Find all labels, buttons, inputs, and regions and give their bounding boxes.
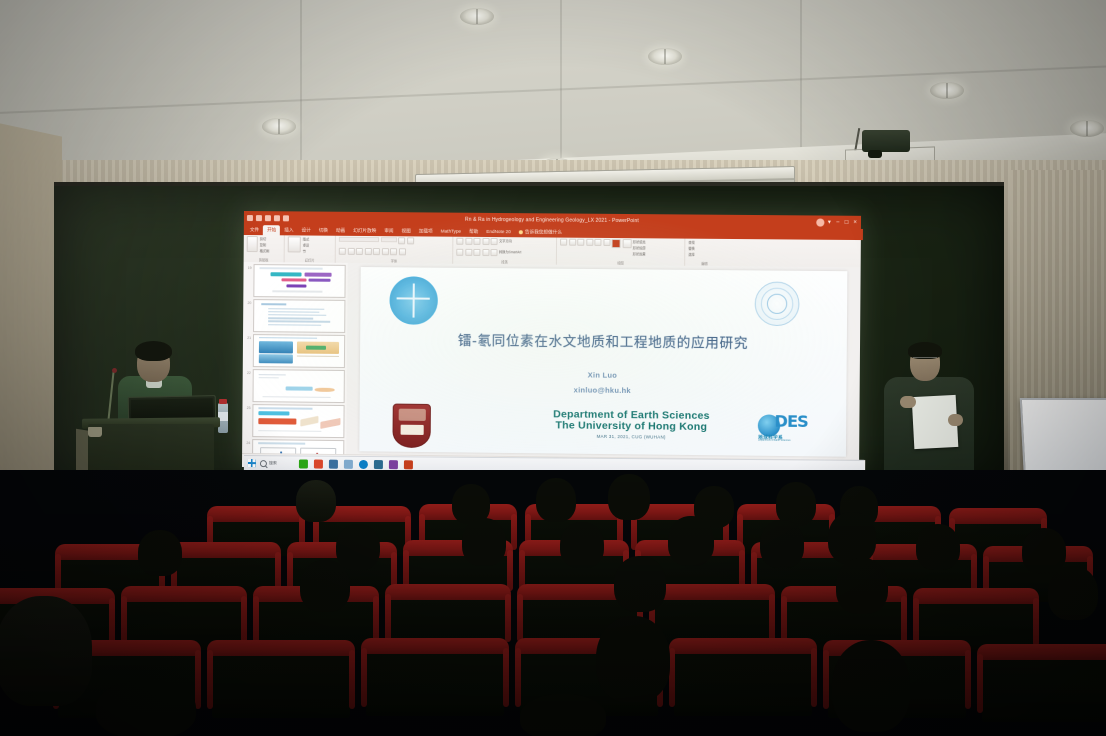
format-painter-label[interactable]: 格式刷 bbox=[260, 248, 270, 253]
audience-head bbox=[138, 530, 182, 576]
increase-indent-icon[interactable] bbox=[482, 238, 489, 245]
redo-icon[interactable] bbox=[265, 215, 271, 221]
ceiling-downlight bbox=[930, 82, 964, 99]
start-button[interactable] bbox=[248, 459, 256, 467]
italic-icon[interactable] bbox=[347, 247, 354, 254]
browser-icon[interactable] bbox=[374, 460, 383, 469]
audience-head bbox=[336, 524, 380, 570]
ceiling-downlight bbox=[648, 48, 682, 65]
list-item[interactable]: 19 bbox=[243, 262, 347, 298]
tell-me-box[interactable]: 告诉我您想做什么 bbox=[515, 227, 566, 237]
shape-effects-label[interactable]: 形状效果 bbox=[633, 251, 646, 256]
shape-arrow-icon[interactable] bbox=[569, 239, 576, 246]
text-direction-label[interactable]: 文字方向 bbox=[499, 238, 512, 243]
audience-head bbox=[760, 520, 804, 568]
ceiling-downlight bbox=[460, 8, 494, 25]
audience-head bbox=[462, 518, 506, 566]
audience-head bbox=[836, 558, 888, 614]
audience-head-foreground bbox=[0, 596, 92, 706]
audience-head bbox=[1022, 528, 1066, 574]
projector-lens bbox=[868, 150, 882, 158]
tab-mathtype[interactable]: MathType bbox=[437, 227, 465, 237]
thumbnail-number: 24 bbox=[244, 439, 250, 445]
cug-seal-logo bbox=[389, 276, 438, 325]
minimize-icon[interactable]: − bbox=[836, 219, 840, 225]
ribbon-group-editing[interactable]: 查找 替换 选择 编辑 bbox=[685, 239, 724, 266]
search-icon bbox=[260, 460, 267, 467]
line-spacing-icon[interactable] bbox=[491, 238, 498, 245]
list-item[interactable]: 20 bbox=[243, 297, 347, 333]
numbering-icon[interactable] bbox=[465, 238, 472, 245]
microphone-head bbox=[112, 368, 117, 373]
tab-animations[interactable]: 动画 bbox=[332, 226, 349, 236]
cut-label[interactable]: 剪切 bbox=[260, 236, 270, 241]
standing-speaker-glasses bbox=[913, 357, 937, 362]
lightbulb-icon bbox=[519, 230, 523, 234]
current-slide[interactable]: 镭-氡同位素在水文地质和工程地质的应用研究 Xin Luo xinluo@hku… bbox=[359, 267, 848, 457]
wechat-icon[interactable] bbox=[299, 459, 308, 468]
shape-pentagon-icon[interactable] bbox=[603, 239, 610, 246]
des-sub-en: Department of Earth Sciences bbox=[758, 439, 790, 442]
shape-rect-icon[interactable] bbox=[560, 239, 567, 246]
slide-thumbnail[interactable] bbox=[252, 369, 344, 403]
tab-design[interactable]: 设计 bbox=[297, 225, 314, 235]
crest-book bbox=[401, 424, 424, 435]
des-logo: DES 地球科学系 Department of Earth Sciences bbox=[758, 411, 805, 442]
font-color-icon[interactable] bbox=[398, 248, 405, 255]
shape-outline-label[interactable]: 形状轮廓 bbox=[633, 245, 646, 250]
hku-crest-logo bbox=[393, 404, 432, 449]
reset-label[interactable]: 重设 bbox=[303, 242, 309, 247]
customize-icon[interactable] bbox=[283, 215, 289, 221]
layout-label[interactable]: 版式 bbox=[303, 236, 309, 241]
shape-triangle-icon[interactable] bbox=[594, 239, 601, 246]
audience-head bbox=[300, 560, 350, 612]
folder-icon[interactable] bbox=[344, 459, 353, 468]
search-placeholder: 搜索 bbox=[269, 460, 277, 466]
audience-head bbox=[520, 694, 606, 736]
shape-fill-label[interactable]: 形状填充 bbox=[633, 239, 646, 244]
ceiling-downlight bbox=[1070, 120, 1104, 137]
document-title: Rn & Ra in Hydrogeology and Engineering … bbox=[289, 215, 817, 225]
text-shadow-icon[interactable] bbox=[364, 248, 371, 255]
speaker-right-hand bbox=[948, 414, 963, 426]
ribbon-group-font[interactable]: 字体 bbox=[336, 236, 454, 264]
list-item[interactable]: 23 bbox=[242, 402, 346, 438]
tab-addins[interactable]: 加载项 bbox=[415, 226, 437, 236]
edge-icon[interactable] bbox=[359, 459, 368, 468]
speaker-left-hand bbox=[900, 396, 916, 408]
audience-head bbox=[828, 512, 876, 564]
crest-lion bbox=[398, 408, 426, 421]
replace-label[interactable]: 替换 bbox=[688, 246, 694, 251]
ribbon-display-options-icon[interactable]: ▾ bbox=[828, 219, 831, 225]
search-input[interactable]: 搜索 bbox=[260, 460, 277, 467]
ceiling-projector bbox=[862, 130, 910, 152]
bottle-cap bbox=[219, 399, 227, 404]
lecture-hall-photo: Rn & Ra in Hydrogeology and Engineering … bbox=[0, 0, 1106, 736]
copy-label[interactable]: 复制 bbox=[260, 242, 270, 247]
tell-me-label: 告诉我您想做什么 bbox=[525, 228, 562, 236]
tab-view[interactable]: 视图 bbox=[398, 226, 415, 236]
underline-icon[interactable] bbox=[356, 247, 363, 254]
seat bbox=[674, 644, 812, 716]
audience-head bbox=[536, 478, 576, 522]
audience-head bbox=[916, 524, 960, 570]
paste-button[interactable] bbox=[247, 236, 258, 252]
ribbon-group-clipboard[interactable]: 剪切 复制 格式刷 剪贴板 bbox=[244, 235, 285, 262]
font-size-box[interactable] bbox=[380, 237, 396, 242]
shape-oval-icon[interactable] bbox=[586, 239, 593, 246]
increase-font-size-icon[interactable] bbox=[398, 237, 405, 244]
thumbnail-number: 20 bbox=[245, 299, 251, 305]
slide-title: 镭-氡同位素在水文地质和工程地质的应用研究 bbox=[360, 328, 847, 353]
audience-head bbox=[560, 522, 604, 568]
bold-icon[interactable] bbox=[339, 247, 346, 254]
audience-head bbox=[596, 616, 670, 702]
restore-icon[interactable]: □ bbox=[845, 219, 849, 225]
slide-editing-canvas[interactable]: 镭-氡同位素在水文地质和工程地质的应用研究 Xin Luo xinluo@hku… bbox=[346, 263, 860, 461]
quick-access-toolbar[interactable] bbox=[244, 214, 289, 220]
select-label[interactable]: 选择 bbox=[688, 252, 694, 257]
list-item[interactable]: 22 bbox=[243, 367, 347, 403]
thumbnail-number: 23 bbox=[244, 404, 250, 410]
strikethrough-icon[interactable] bbox=[373, 248, 380, 255]
columns-icon[interactable] bbox=[490, 249, 497, 256]
change-case-icon[interactable] bbox=[390, 248, 397, 255]
save-icon[interactable] bbox=[247, 215, 253, 221]
close-icon[interactable]: × bbox=[853, 219, 857, 225]
seat bbox=[212, 646, 350, 718]
thumbnail-number: 19 bbox=[246, 264, 252, 270]
qq-icon[interactable] bbox=[314, 459, 323, 468]
align-center-icon[interactable] bbox=[465, 248, 472, 255]
tab-endnote[interactable]: EndNote 20 bbox=[482, 227, 515, 237]
audience-head bbox=[668, 516, 714, 566]
slide-thumbnail-panel[interactable]: 19 20 bbox=[242, 262, 349, 455]
ribbon-group-drawing[interactable]: 形状填充 形状轮廓 形状效果 绘图 bbox=[557, 238, 686, 266]
align-left-icon[interactable] bbox=[456, 248, 463, 255]
audience-head bbox=[614, 556, 666, 612]
find-label[interactable]: 查找 bbox=[688, 240, 694, 245]
slide-thumbnail[interactable] bbox=[253, 299, 345, 333]
audience-head bbox=[96, 680, 196, 736]
tab-review[interactable]: 审阅 bbox=[380, 226, 397, 236]
ceiling-downlight bbox=[262, 118, 296, 135]
paper-cup bbox=[88, 427, 102, 437]
audience-head bbox=[608, 474, 650, 520]
ribbon-group-paragraph[interactable]: 文字方向 转换为SmartArt 段落 bbox=[453, 237, 557, 265]
tab-file[interactable]: 文件 bbox=[246, 225, 263, 235]
shape-line-icon[interactable] bbox=[577, 239, 584, 246]
slide-thumbnail[interactable] bbox=[253, 264, 345, 298]
window-buttons[interactable]: ▾ − □ × bbox=[828, 219, 861, 225]
slideshow-icon[interactable] bbox=[274, 215, 280, 221]
decrease-font-size-icon[interactable] bbox=[407, 237, 414, 244]
powerpoint-icon[interactable] bbox=[404, 460, 413, 469]
projected-powerpoint-window[interactable]: Rn & Ra in Hydrogeology and Engineering … bbox=[242, 211, 861, 474]
ribbon-group-slides[interactable]: 版式 重设 节 幻灯片 bbox=[285, 235, 336, 262]
section-label[interactable]: 节 bbox=[303, 248, 309, 253]
academic-seal-logo bbox=[754, 281, 799, 326]
undo-icon[interactable] bbox=[256, 215, 262, 221]
tab-transitions[interactable]: 切换 bbox=[315, 226, 332, 236]
seat bbox=[982, 650, 1106, 722]
explorer-icon[interactable] bbox=[329, 459, 338, 468]
des-wordmark: DES bbox=[774, 411, 807, 430]
slide-thumbnail[interactable] bbox=[252, 404, 344, 438]
tab-slideshow[interactable]: 幻灯片放映 bbox=[349, 226, 380, 236]
bullets-icon[interactable] bbox=[456, 238, 463, 245]
align-right-icon[interactable] bbox=[473, 248, 480, 255]
audience-head bbox=[832, 640, 910, 732]
taskbar-app-icons[interactable] bbox=[299, 459, 413, 469]
podium-presenter-hair bbox=[135, 341, 172, 361]
slide-author: Xin Luo bbox=[360, 368, 847, 382]
slide-thumbnail[interactable] bbox=[253, 334, 345, 368]
audience-head bbox=[296, 480, 336, 522]
font-name-box[interactable] bbox=[339, 237, 379, 242]
justify-icon[interactable] bbox=[482, 248, 489, 255]
slide-email: xinluo@hku.hk bbox=[359, 383, 846, 397]
account-avatar[interactable] bbox=[817, 218, 825, 226]
list-item[interactable]: 21 bbox=[243, 332, 347, 368]
character-spacing-icon[interactable] bbox=[381, 248, 388, 255]
decrease-indent-icon[interactable] bbox=[473, 238, 480, 245]
tab-help[interactable]: 帮助 bbox=[465, 227, 482, 237]
quick-styles-icon[interactable] bbox=[611, 239, 620, 248]
new-slide-button[interactable] bbox=[288, 236, 301, 252]
onenote-icon[interactable] bbox=[389, 460, 398, 469]
arrange-icon[interactable] bbox=[622, 239, 631, 248]
convert-smartart-label[interactable]: 转换为SmartArt bbox=[499, 249, 521, 254]
tab-home[interactable]: 开始 bbox=[263, 225, 280, 235]
tab-insert[interactable]: 插入 bbox=[280, 225, 297, 235]
audience-head bbox=[1048, 566, 1098, 620]
thumbnail-number: 21 bbox=[245, 334, 251, 340]
department-block: Department of Earth Sciences The Univers… bbox=[505, 409, 759, 441]
seat bbox=[366, 644, 504, 716]
thumbnail-number: 22 bbox=[245, 369, 251, 375]
